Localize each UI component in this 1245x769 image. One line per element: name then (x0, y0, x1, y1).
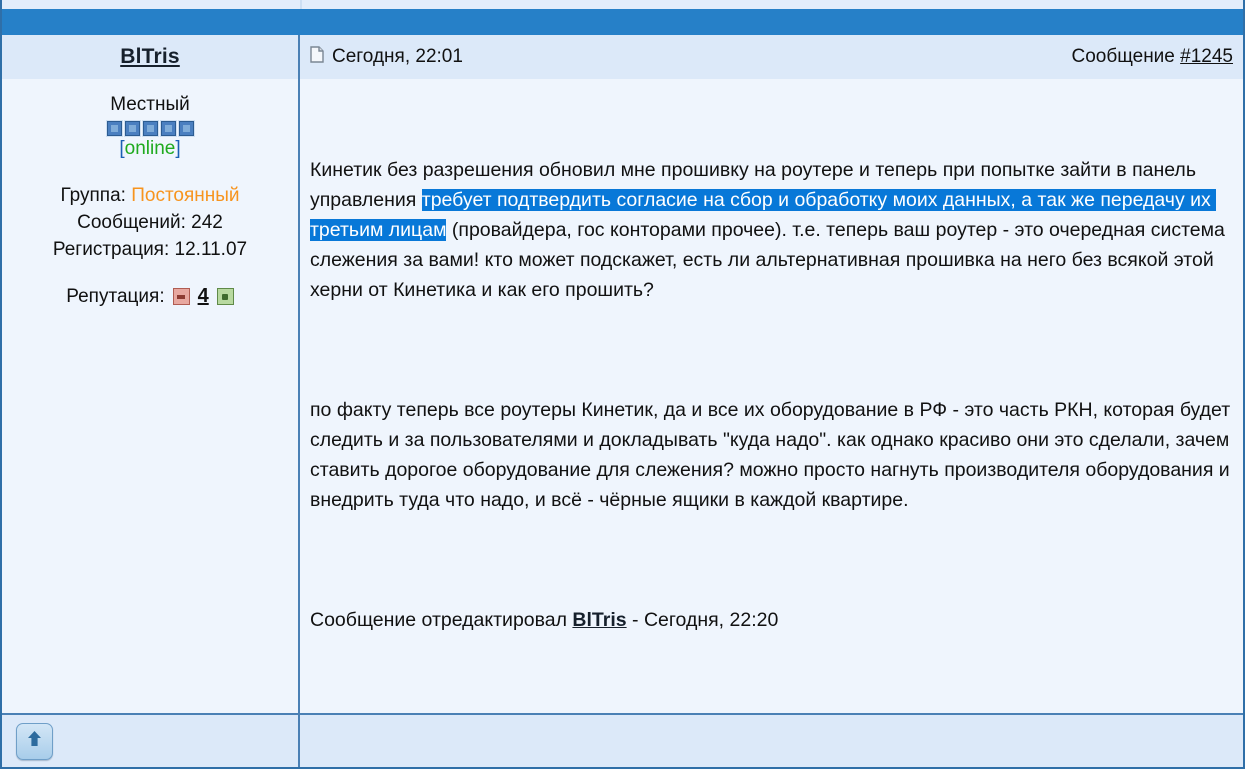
post-separator-bar (0, 9, 1245, 35)
post-date: Сегодня, 22:01 (310, 46, 463, 69)
message-paragraph-1: Кинетик без разрешения обновил мне проши… (310, 155, 1231, 305)
paragraph-1-part-2: (провайдера, гос конторами прочее). т.е.… (310, 219, 1230, 301)
post-footer-right (300, 715, 1243, 767)
post-date-text: Сегодня, 22:01 (332, 46, 463, 68)
bracket-close: ] (175, 138, 180, 159)
post-body-row: Местный [online] Группа: Постоянный Сооб… (2, 79, 1243, 713)
edit-note-prefix: Сообщение отредактировал (310, 609, 572, 631)
rank-pip-icon (143, 121, 158, 136)
arrow-up-icon (25, 729, 44, 753)
post-footer-left (2, 715, 300, 767)
post-header-row: BlTris Сегодня, 22:01 Сообщение #1245 (2, 35, 1243, 79)
author-group-line: Группа: Постоянный (8, 183, 292, 210)
post-number-link[interactable]: #1245 (1180, 46, 1233, 67)
column-divider (300, 0, 302, 9)
plus-icon[interactable] (217, 288, 234, 305)
post-meta-cell: Сегодня, 22:01 Сообщение #1245 (300, 35, 1243, 79)
edit-note-suffix: - Сегодня, 22:20 (627, 609, 779, 631)
online-status: [online] (8, 137, 292, 162)
author-name-link[interactable]: BlTris (120, 45, 180, 69)
post-content-cell: Кинетик без разрешения обновил мне проши… (300, 79, 1243, 713)
previous-post-sliver (0, 0, 1245, 9)
post-number-label: Сообщение (1071, 46, 1174, 67)
post-message-text: Кинетик без разрешения обновил мне проши… (310, 95, 1231, 695)
author-rank-pips (8, 121, 292, 136)
forum-post: BlTris Сегодня, 22:01 Сообщение #1245 (0, 0, 1245, 631)
author-group-label: Группа: (60, 185, 126, 206)
author-group-value: Постоянный (131, 185, 239, 206)
post-author-cell: BlTris (2, 35, 300, 79)
author-profile-panel: Местный [online] Группа: Постоянный Сооб… (2, 79, 300, 713)
reputation-label: Репутация: (66, 286, 164, 308)
author-registered-line: Регистрация: 12.11.07 (8, 237, 292, 264)
scroll-to-top-button[interactable] (16, 723, 53, 760)
reputation-value-link[interactable]: 4 (198, 285, 209, 308)
author-stats: Группа: Постоянный Сообщений: 242 Регист… (8, 183, 292, 263)
online-status-text: online (125, 138, 176, 159)
rank-pip-icon (107, 121, 122, 136)
post-number: Сообщение #1245 (1071, 46, 1233, 68)
edit-note-author-link[interactable]: BlTris (572, 609, 626, 631)
minus-icon[interactable] (173, 288, 190, 305)
author-posts-line: Сообщений: 242 (8, 210, 292, 237)
author-reputation: Репутация: 4 (8, 285, 292, 308)
rank-pip-icon (161, 121, 176, 136)
rank-pip-icon (179, 121, 194, 136)
rank-pip-icon (125, 121, 140, 136)
author-rank-title: Местный (8, 93, 292, 117)
post-footer-row (2, 713, 1243, 767)
document-icon (310, 46, 324, 69)
message-paragraph-2: по факту теперь все роутеры Кинетик, да … (310, 395, 1231, 515)
post-frame: BlTris Сегодня, 22:01 Сообщение #1245 (0, 35, 1245, 769)
